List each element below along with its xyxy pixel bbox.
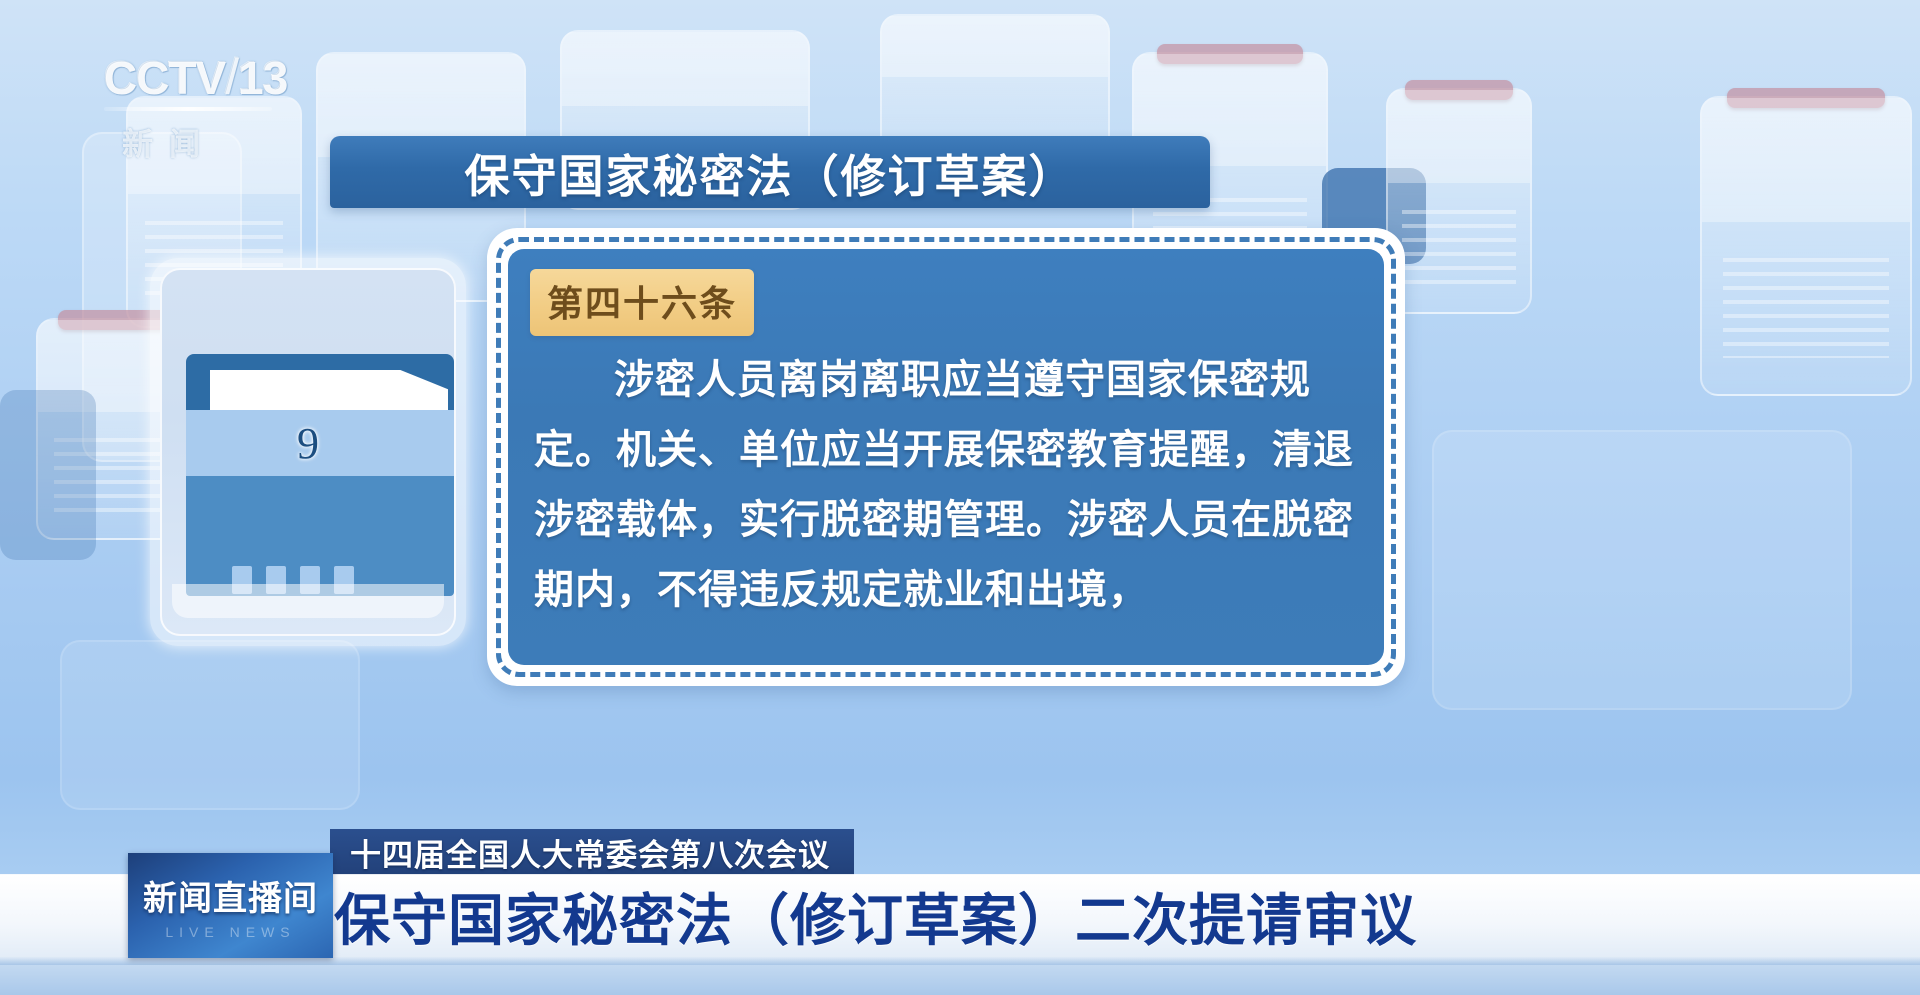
document-folder-illustration: 9 [150, 258, 466, 646]
bg-card-head [882, 16, 1108, 77]
program-station-badge: 新闻直播间 LIVE NEWS [128, 853, 333, 958]
bg-card-right-2 [1386, 88, 1532, 314]
cctv-logo-subtitle: 新闻 [104, 119, 304, 164]
law-title-banner: 保守国家秘密法（修订草案） [330, 136, 1210, 208]
law-title-text: 保守国家秘密法（修订草案） [464, 140, 1075, 205]
cctv-logo-letters: CCTV [104, 52, 225, 104]
bg-card-head [1702, 98, 1910, 222]
program-name-en: LIVE NEWS [165, 924, 295, 940]
program-name-cn: 新闻直播间 [143, 871, 318, 920]
bg-card-lines [1723, 258, 1889, 359]
broadcast-screen: CCTV/13 新闻 保守国家秘密法（修订草案） 9 [0, 0, 1920, 995]
bg-card-lines [1402, 210, 1516, 285]
headline-bottom-glow [0, 957, 1920, 965]
cctv-logo-number: 13 [238, 52, 287, 104]
article-number-label: 第四十六条 [547, 283, 737, 324]
lower-third-banner: 十四届全国人大常委会第八次会议 保守国家秘密法（修订草案）二次提请审议 新闻直播… [0, 823, 1920, 995]
bg-card-right-3 [1700, 96, 1912, 396]
bg-shape-bottom-left [60, 640, 360, 810]
article-body-surface: 第四十六条 涉密人员离岗离职应当遵守国家保密规定。机关、单位应当开展保密教育提醒… [508, 249, 1384, 665]
program-topic-text: 十四届全国人大常委会第八次会议 [350, 830, 830, 875]
cctv-logo-mark: CCTV/13 [104, 52, 304, 102]
folder-base [172, 584, 444, 618]
cctv-logo-slash: / [225, 49, 238, 105]
headline-text: 保守国家秘密法（修订草案）二次提请审议 [334, 879, 1417, 963]
article-body-text: 涉密人员离岗离职应当遵守国家保密规定。机关、单位应当开展保密教育提醒，清退涉密载… [534, 345, 1370, 625]
bg-card-head [562, 32, 808, 106]
folder-number-label: 9 [162, 418, 454, 469]
cctv13-logo: CCTV/13 新闻 [104, 52, 304, 174]
bg-card-head [1388, 90, 1530, 183]
bg-block-left [0, 390, 96, 560]
folder-shell: 9 [160, 268, 456, 636]
bg-shape-right-low [1432, 430, 1852, 710]
article-number-badge: 第四十六条 [530, 269, 754, 336]
lower-third-base [0, 965, 1920, 995]
article-dashed-frame: 第四十六条 涉密人员离岗离职应当遵守国家保密规定。机关、单位应当开展保密教育提醒… [496, 237, 1396, 677]
cctv-logo-underline [104, 107, 272, 111]
program-topic-bar: 十四届全国人大常委会第八次会议 [330, 829, 854, 875]
article-content-panel: 第四十六条 涉密人员离岗离职应当遵守国家保密规定。机关、单位应当开展保密教育提醒… [487, 228, 1405, 686]
